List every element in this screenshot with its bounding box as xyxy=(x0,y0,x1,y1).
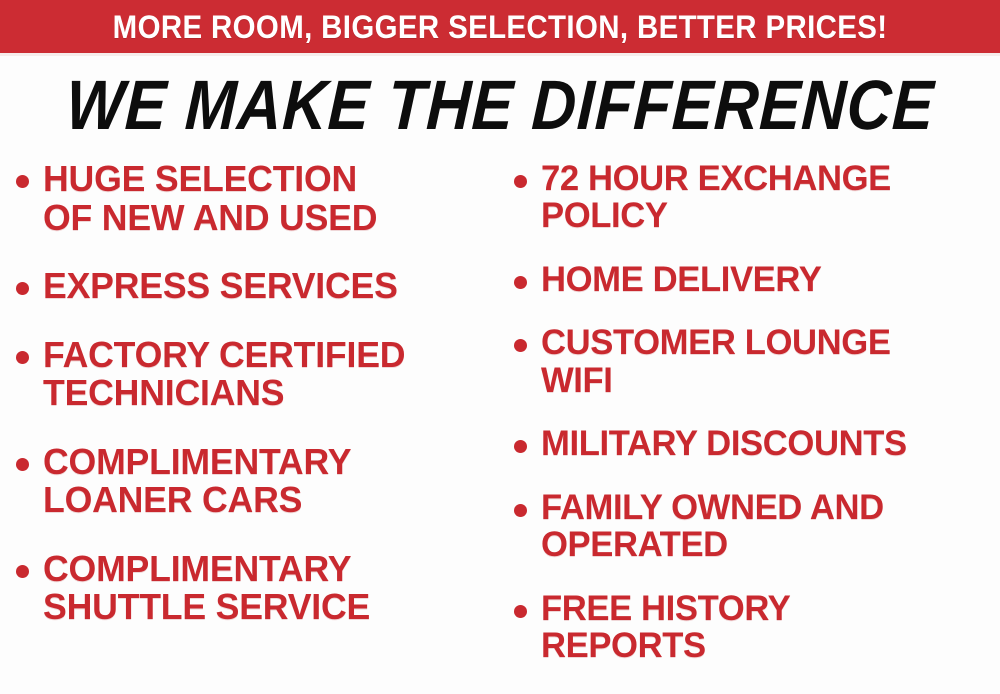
headline: WE MAKE THE DIFFERENCE xyxy=(0,70,1000,140)
top-banner-text: MORE ROOM, BIGGER SELECTION, BETTER PRIC… xyxy=(113,11,888,43)
list-item: FACTORY CERTIFIED TECHNICIANS xyxy=(10,336,505,413)
list-item: 72 HOUR EXCHANGE POLICY xyxy=(508,160,1000,235)
benefits-columns: HUGE SELECTION OF NEW AND USED EXPRESS S… xyxy=(0,160,1000,694)
list-item-label: FACTORY CERTIFIED TECHNICIANS xyxy=(43,336,500,413)
list-item-label: CUSTOMER LOUNGE WIFI xyxy=(541,324,995,399)
list-item: FREE HISTORY REPORTS xyxy=(508,590,1000,665)
headline-text: WE MAKE THE DIFFERENCE xyxy=(64,70,935,140)
list-item: COMPLIMENTARY SHUTTLE SERVICE xyxy=(10,550,505,627)
bullet-dot-icon xyxy=(514,605,527,618)
list-item: HUGE SELECTION OF NEW AND USED xyxy=(10,160,505,237)
list-item-label: FREE HISTORY REPORTS xyxy=(541,590,995,665)
bullet-dot-icon xyxy=(16,458,29,471)
banner-underline xyxy=(0,53,1000,56)
dealership-benefits-poster: MORE ROOM, BIGGER SELECTION, BETTER PRIC… xyxy=(0,0,1000,694)
bullet-dot-icon xyxy=(514,339,527,352)
bullet-dot-icon xyxy=(16,282,29,295)
bullet-dot-icon xyxy=(514,276,527,289)
list-item: CUSTOMER LOUNGE WIFI xyxy=(508,324,1000,399)
list-item: MILITARY DISCOUNTS xyxy=(508,425,1000,462)
list-item: EXPRESS SERVICES xyxy=(10,267,505,306)
list-item-label: HOME DELIVERY xyxy=(541,261,995,298)
list-item: FAMILY OWNED AND OPERATED xyxy=(508,489,1000,564)
bullet-dot-icon xyxy=(514,175,527,188)
bullet-dot-icon xyxy=(514,504,527,517)
bullet-dot-icon xyxy=(16,175,29,188)
benefits-column-right: 72 HOUR EXCHANGE POLICY HOME DELIVERY CU… xyxy=(508,160,1000,694)
benefits-column-left: HUGE SELECTION OF NEW AND USED EXPRESS S… xyxy=(10,160,505,694)
list-item-label: COMPLIMENTARY LOANER CARS xyxy=(43,443,500,520)
list-item-label: HUGE SELECTION OF NEW AND USED xyxy=(43,160,500,237)
bullet-dot-icon xyxy=(16,351,29,364)
list-item-label: MILITARY DISCOUNTS xyxy=(541,425,995,462)
bullet-dot-icon xyxy=(514,440,527,453)
list-item-label: FAMILY OWNED AND OPERATED xyxy=(541,489,995,564)
list-item-label: 72 HOUR EXCHANGE POLICY xyxy=(541,160,995,235)
list-item-label: COMPLIMENTARY SHUTTLE SERVICE xyxy=(43,550,500,627)
list-item: HOME DELIVERY xyxy=(508,261,1000,298)
list-item-label: EXPRESS SERVICES xyxy=(43,267,500,306)
bullet-dot-icon xyxy=(16,565,29,578)
top-banner: MORE ROOM, BIGGER SELECTION, BETTER PRIC… xyxy=(0,0,1000,53)
list-item: COMPLIMENTARY LOANER CARS xyxy=(10,443,505,520)
